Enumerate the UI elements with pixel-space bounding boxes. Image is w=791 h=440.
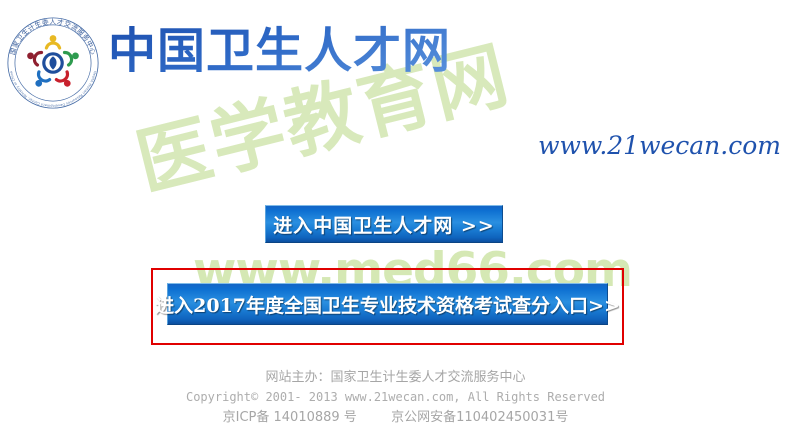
site-header: 国家卫生计生委人才交流服务中心 Health Human Resources D… [0,0,791,110]
footer-licenses: 京ICP备 14010889 号 京公网安备110402450031号 [0,407,791,428]
circular-emblem-icon: 国家卫生计生委人才交流服务中心 Health Human Resources D… [6,16,100,110]
footer-icp-number: 京ICP备 14010889 号 [223,410,357,425]
enter-site-button[interactable]: 进入中国卫生人才网 >> [265,205,503,243]
footer-copyright: Copyright© 2001- 2013 www.21wecan.com, A… [0,388,791,407]
page-root: 医学教育网 www.med66.com 国家卫生计生委人才交流服务中心 Heal… [0,0,791,440]
site-footer: 网站主办：国家卫生计生委人才交流服务中心 Copyright© 2001- 20… [0,368,791,428]
footer-organizer: 网站主办：国家卫生计生委人才交流服务中心 [0,368,791,388]
site-url-text: www.21wecan.com [538,131,781,160]
page-title: 中国卫生人才网 [108,22,451,80]
footer-police-number: 京公网安备110402450031号 [391,410,568,425]
score-entry-button[interactable]: 进入2017年度全国卫生专业技术资格考试查分入口>> [167,283,608,325]
